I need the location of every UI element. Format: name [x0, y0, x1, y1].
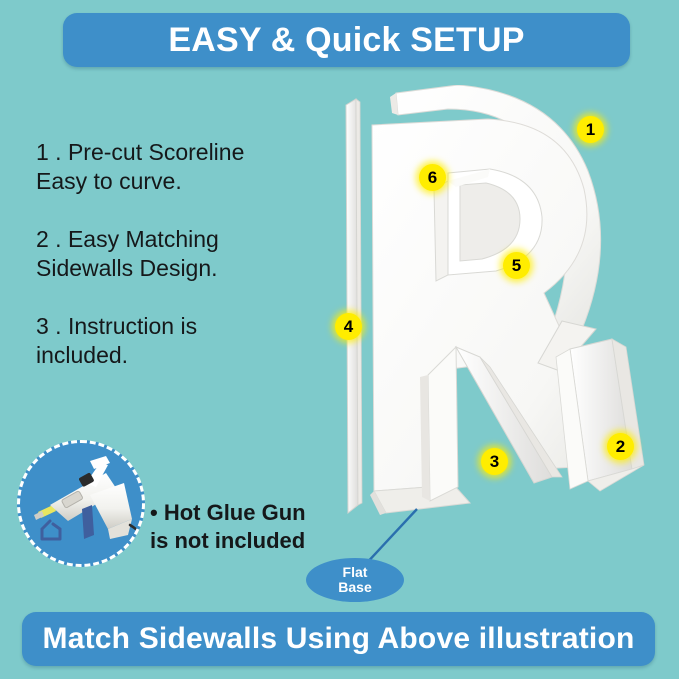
top-banner: EASY & Quick SETUP: [63, 13, 630, 67]
bottom-banner-text: Match Sidewalls Using Above illustration: [43, 622, 635, 656]
top-banner-text: EASY & Quick SETUP: [168, 21, 524, 60]
hot-glue-gun-icon: [20, 443, 145, 567]
glue-note-line-2: is not included: [150, 527, 340, 555]
flat-base-callout: Flat Base: [306, 558, 404, 602]
instruction-step-3: 3 . Instruction is included.: [36, 312, 336, 371]
flat-base-line-2: Base: [338, 580, 371, 595]
bottom-banner: Match Sidewalls Using Above illustration: [22, 612, 655, 666]
flat-base-line-1: Flat: [343, 565, 368, 580]
step-1-line-1: 1 . Pre-cut Scoreline: [36, 138, 336, 167]
badge-4: 4: [335, 313, 362, 340]
instruction-list: 1 . Pre-cut Scoreline Easy to curve. 2 .…: [36, 138, 336, 399]
instruction-step-1: 1 . Pre-cut Scoreline Easy to curve.: [36, 138, 336, 197]
step-1-line-2: Easy to curve.: [36, 167, 336, 196]
badge-3: 3: [481, 448, 508, 475]
instruction-step-2: 2 . Easy Matching Sidewalls Design.: [36, 225, 336, 284]
step-3-line-1: 3 . Instruction is: [36, 312, 336, 341]
product-infographic: EASY & Quick SETUP 1 . Pre-cut Scoreline…: [0, 0, 679, 679]
glue-gun-note: • Hot Glue Gun is not included: [150, 499, 340, 554]
badge-2: 2: [607, 433, 634, 460]
badge-6: 6: [419, 164, 446, 191]
step-2-line-2: Sidewalls Design.: [36, 254, 336, 283]
letter-part-4-left-sidewall: [346, 99, 362, 513]
badge-5: 5: [503, 252, 530, 279]
glue-gun-badge: [17, 440, 145, 567]
glue-note-line-1: • Hot Glue Gun: [150, 499, 340, 527]
step-3-line-2: included.: [36, 341, 336, 370]
badge-1: 1: [577, 116, 604, 143]
step-2-line-1: 2 . Easy Matching: [36, 225, 336, 254]
